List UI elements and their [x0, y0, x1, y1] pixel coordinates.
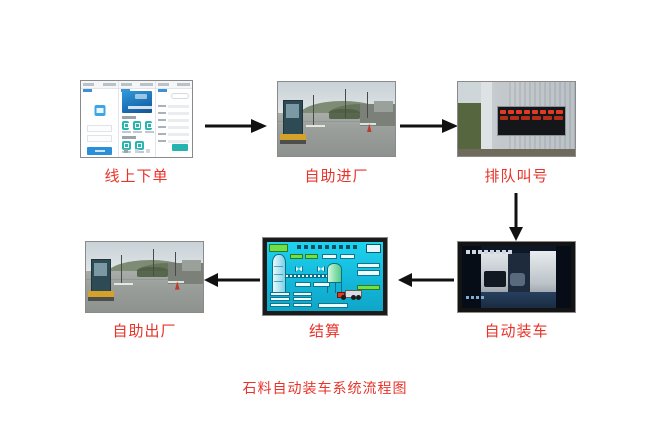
thumbnail-factory-gate-entry[interactable] — [277, 81, 396, 157]
arrow-down-queue-to-loading — [508, 193, 524, 241]
arrow-right-order-to-entry — [205, 118, 267, 134]
guard-booth — [283, 100, 303, 136]
grid-icon — [145, 121, 152, 130]
mock-dropdown — [171, 93, 189, 99]
hmi-truck — [337, 290, 363, 298]
flow-label-online-order: 线上下单 — [80, 165, 193, 186]
led-display-photo — [458, 82, 575, 156]
thumbnail-app-mockup[interactable] — [80, 80, 193, 158]
grid-icon — [133, 121, 140, 130]
loading-chute — [510, 273, 525, 285]
guard-booth — [91, 259, 111, 293]
mock-tab-indicator — [83, 89, 92, 92]
boom-barrier — [306, 125, 325, 127]
thumbnail-cctv-monitor[interactable] — [457, 241, 576, 313]
mock-statusbar — [119, 81, 155, 89]
mock-login-button — [87, 147, 112, 155]
flow-label-auto-loading: 自动装车 — [457, 320, 576, 341]
hmi-status-badge — [269, 244, 288, 252]
thumbnail-led-board[interactable] — [457, 81, 576, 157]
mockup-pane-login — [81, 81, 119, 157]
hmi-status-bar — [318, 303, 348, 309]
factory-gate-photo — [86, 242, 203, 312]
hmi-readout — [270, 297, 290, 301]
hmi-readout — [293, 303, 313, 307]
hmi-readout — [357, 263, 379, 269]
grid-icon — [122, 121, 129, 130]
hmi-valve — [295, 265, 303, 272]
hmi-readout — [322, 254, 337, 259]
flow-label-settlement: 结算 — [262, 320, 388, 341]
hmi-readout — [357, 270, 379, 276]
hmi-readout — [313, 282, 329, 287]
mockup-pane-home — [119, 81, 156, 157]
arrow-left-settlement-to-exit — [204, 272, 260, 288]
mock-statusbar — [156, 81, 192, 89]
mock-icon-grid-row1 — [122, 121, 152, 130]
hmi-readout — [340, 254, 355, 259]
factory-gate-photo — [278, 82, 395, 156]
arrow-right-entry-to-queue — [400, 118, 458, 134]
mock-section-title — [122, 116, 136, 119]
thumbnail-scada-screen[interactable] — [262, 237, 388, 316]
hmi-clock — [366, 244, 381, 253]
mock-submit-button — [172, 144, 188, 151]
hmi-silo — [272, 254, 286, 293]
flow-label-queue-call: 排队叫号 — [457, 165, 576, 186]
app-logo-icon — [94, 105, 105, 116]
hmi-screen-title — [297, 245, 357, 249]
mock-password-field — [87, 135, 112, 142]
osd-timestamp — [466, 250, 512, 254]
hmi-valve — [317, 265, 325, 272]
flowchart-canvas: 线上下单 — [0, 0, 650, 430]
hmi-readout — [293, 292, 313, 296]
mock-tab-indicator — [158, 89, 167, 92]
diagram-title: 石料自动装车系统流程图 — [0, 378, 650, 398]
hmi-indicator — [305, 254, 318, 259]
mock-statusbar — [81, 81, 118, 89]
hmi-loading-cone — [327, 263, 342, 284]
truck-in-bay — [484, 271, 506, 287]
hmi-readout — [293, 297, 313, 301]
led-queue-board — [497, 106, 566, 136]
arrow-left-loading-to-settlement — [398, 272, 454, 288]
app-mockup-illustration — [81, 81, 192, 157]
boom-barrier — [114, 283, 133, 285]
hmi-readout — [295, 282, 311, 287]
hmi-readout — [270, 292, 290, 296]
flow-label-self-exit: 自助出厂 — [85, 320, 204, 341]
scada-hmi-photo — [263, 238, 387, 315]
mock-section-title — [122, 136, 136, 139]
hmi-readout — [270, 303, 290, 307]
mock-hero-banner — [122, 91, 152, 113]
mockup-pane-order-form — [156, 81, 192, 157]
hmi-indicator — [290, 254, 303, 259]
mock-pagination-dots — [119, 149, 155, 153]
osd-channel-label — [466, 296, 484, 299]
thumbnail-factory-gate-exit[interactable] — [85, 241, 204, 313]
flow-label-self-entry: 自助进厂 — [277, 165, 396, 186]
mock-username-field — [87, 125, 112, 132]
cctv-monitor-photo — [458, 242, 575, 312]
